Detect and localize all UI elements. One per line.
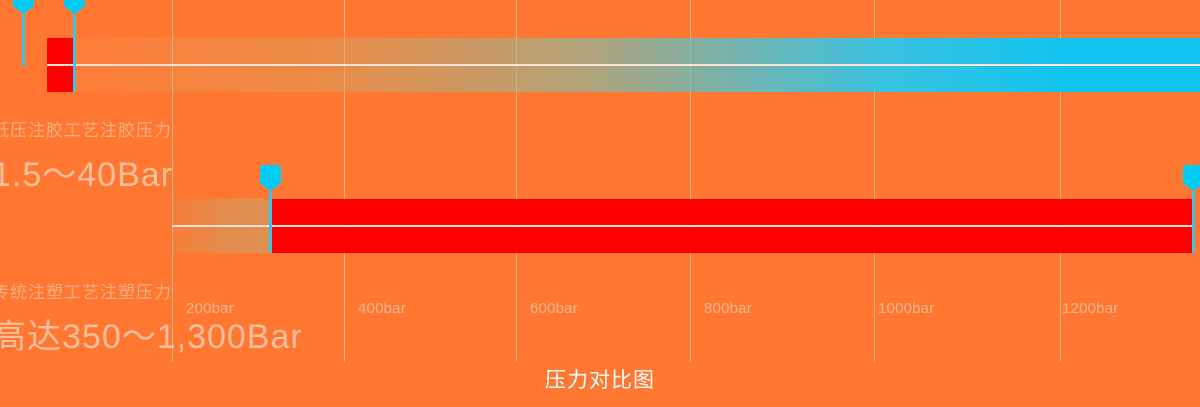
low-pressure-value: 1.5～40Bar bbox=[0, 147, 173, 196]
pressure-comparison-chart: 200bar 400bar 600bar 800bar 1000bar 1200… bbox=[0, 0, 1200, 407]
pin-head-icon bbox=[260, 165, 281, 191]
traditional-value: 高达350～1,300Bar bbox=[0, 309, 303, 358]
bar-pair-separator-top bbox=[47, 64, 1200, 66]
pin-head-icon bbox=[13, 0, 34, 14]
tick-label-1000bar: 1000bar bbox=[878, 300, 934, 317]
traditional-caption: 传统注塑工艺注塑压力 bbox=[0, 278, 303, 303]
pin-marker-350bar[interactable] bbox=[269, 191, 272, 253]
pin-head-icon bbox=[64, 0, 85, 14]
bar-low-pressure-upper bbox=[74, 38, 1200, 64]
pin-marker-40bar[interactable] bbox=[73, 14, 76, 92]
bar-low-pressure-upper-red-segment bbox=[47, 38, 74, 64]
tick-label-600bar: 600bar bbox=[530, 300, 578, 317]
pin-marker-1300bar[interactable] bbox=[1192, 191, 1195, 253]
pin-marker-1_5bar[interactable] bbox=[22, 14, 25, 66]
bar-traditional-upper-leadin bbox=[172, 199, 270, 225]
low-pressure-description: 低压注胶工艺注胶压力 1.5～40Bar bbox=[0, 116, 173, 196]
bar-pair-separator-bottom bbox=[172, 225, 1193, 227]
bar-low-pressure-lower-red-segment bbox=[47, 66, 74, 92]
pin-head-icon bbox=[1183, 165, 1200, 191]
chart-title: 压力对比图 bbox=[0, 364, 1200, 394]
bar-traditional-lower-leadin bbox=[172, 227, 270, 253]
low-pressure-caption: 低压注胶工艺注胶压力 bbox=[0, 116, 173, 141]
bar-traditional-lower bbox=[270, 227, 1193, 253]
bar-traditional-upper bbox=[270, 199, 1193, 225]
tick-label-400bar: 400bar bbox=[358, 300, 406, 317]
tick-label-1200bar: 1200bar bbox=[1062, 300, 1118, 317]
tick-label-800bar: 800bar bbox=[704, 300, 752, 317]
bar-low-pressure-lower bbox=[74, 66, 1200, 92]
traditional-description: 传统注塑工艺注塑压力 高达350～1,300Bar bbox=[0, 278, 303, 358]
